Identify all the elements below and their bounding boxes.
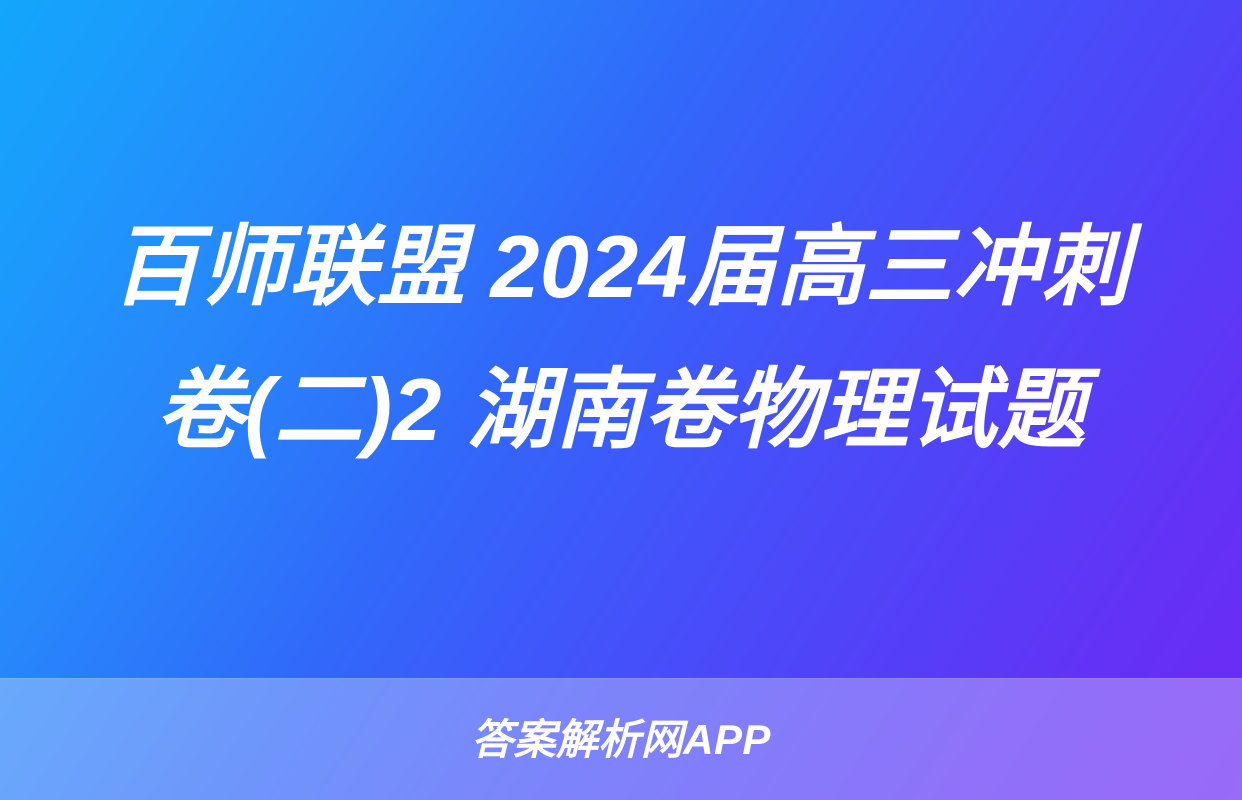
app-watermark-label: 答案解析网APP <box>471 719 771 761</box>
title-area: 百师联盟 2024届高三冲刺卷(二)2 湖南卷物理试题 <box>0 0 1242 678</box>
exam-paper-cover-banner: 百师联盟 2024届高三冲刺卷(二)2 湖南卷物理试题 答案解析网APP <box>0 0 1242 800</box>
page-title: 百师联盟 2024届高三冲刺卷(二)2 湖南卷物理试题 <box>75 196 1167 481</box>
footer-watermark-band: 答案解析网APP <box>0 678 1242 800</box>
